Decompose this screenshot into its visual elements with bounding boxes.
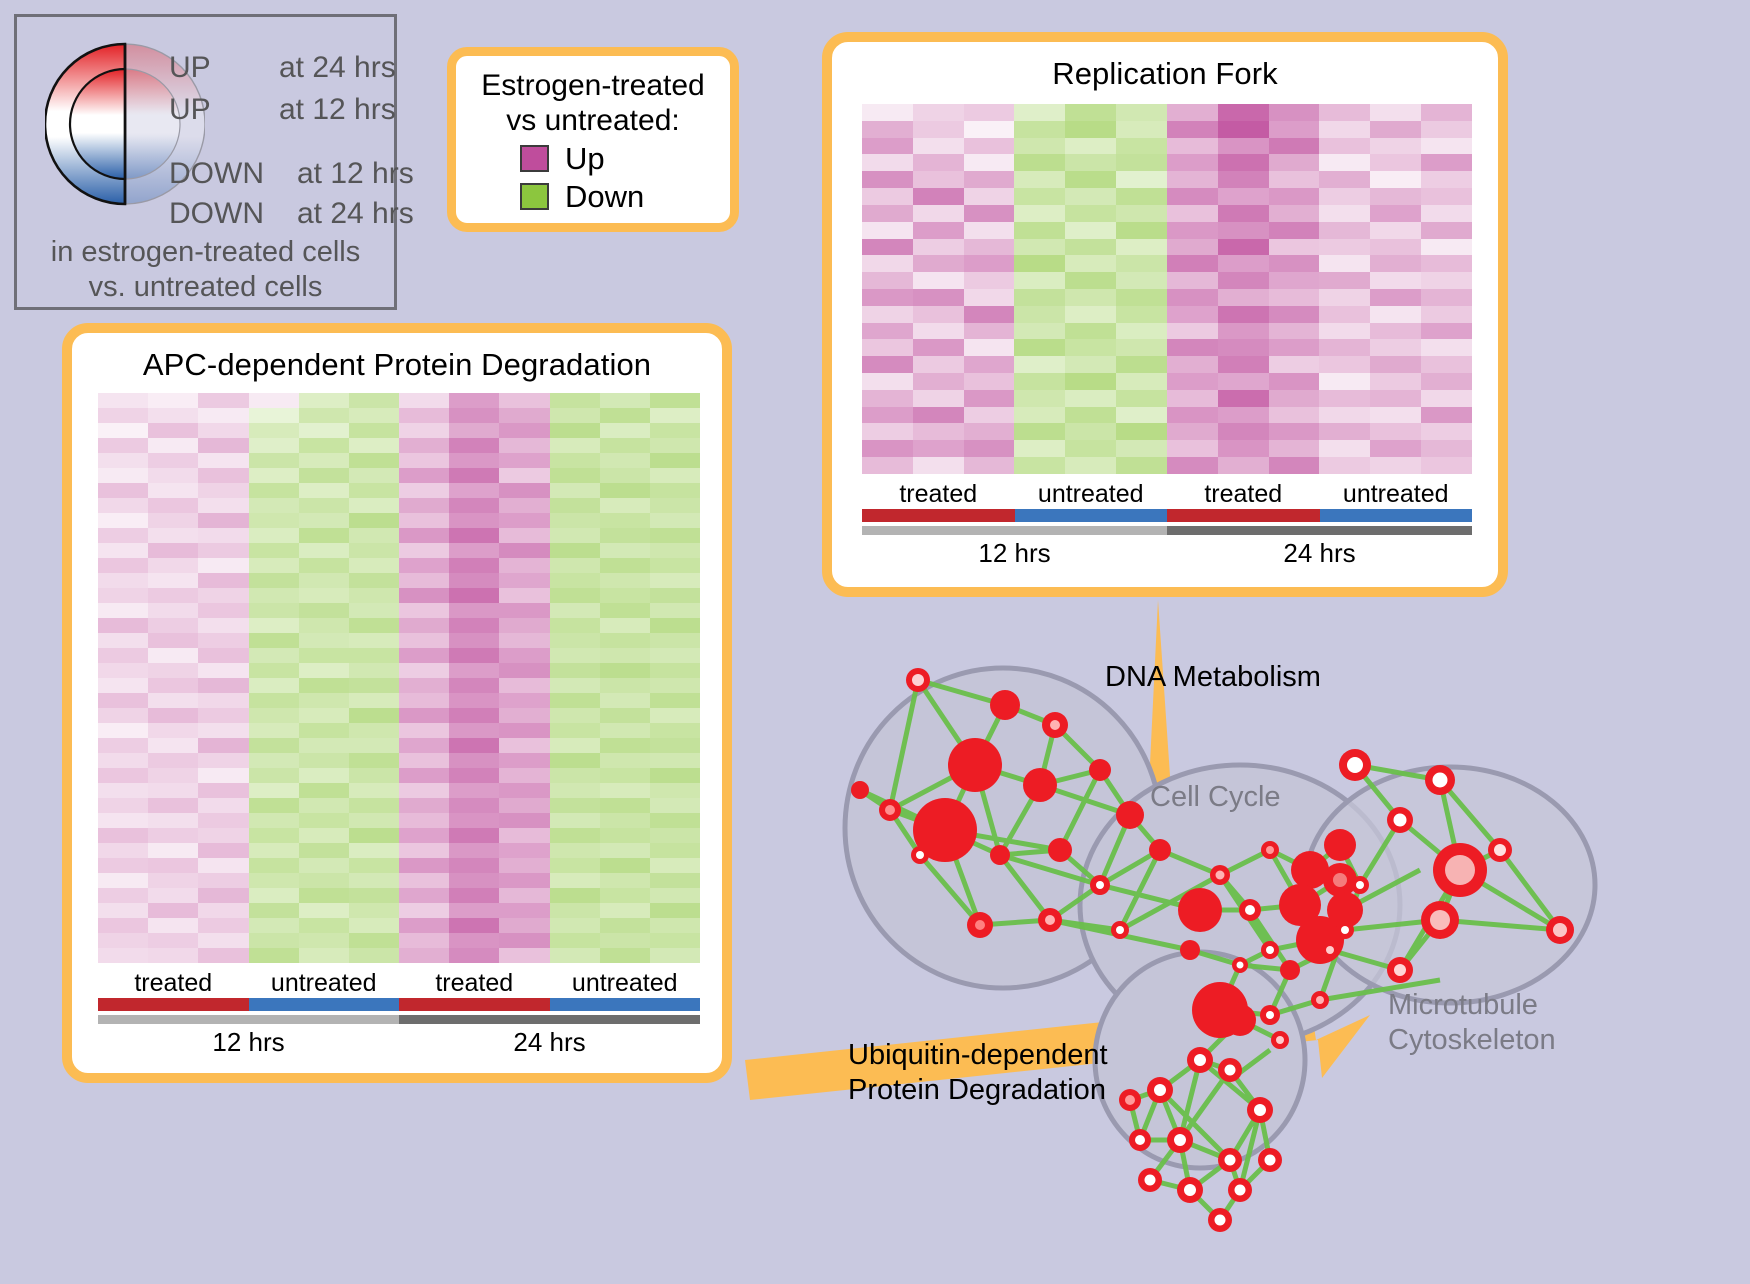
heatmap-cell <box>550 723 600 738</box>
heatmap-cell <box>198 783 248 798</box>
heatmap-cell <box>600 903 650 918</box>
heatmap-cell <box>198 438 248 453</box>
heatmap-cell <box>1167 407 1218 424</box>
heatmap-cell <box>913 423 964 440</box>
heatmap-row <box>862 423 1472 440</box>
heatmap-cell <box>449 603 499 618</box>
heatmap-cell <box>1116 239 1167 256</box>
heatmap-cell <box>198 423 248 438</box>
heatmap-cell <box>98 603 148 618</box>
heatmap-cell <box>1269 356 1320 373</box>
heatmap-cell <box>1319 339 1370 356</box>
heatmap-cell <box>1014 306 1065 323</box>
heatmap-cell <box>1065 188 1116 205</box>
group-color-bars-apc <box>98 998 700 1011</box>
heatmap-cell <box>1421 373 1472 390</box>
heatmap-row <box>98 663 700 678</box>
heatmap-cell <box>1421 138 1472 155</box>
heatmap-cell <box>148 483 198 498</box>
heatmap-cell <box>550 618 600 633</box>
heatmap-row <box>862 222 1472 239</box>
heatmap-row <box>98 918 700 933</box>
heatmap-cell <box>98 543 148 558</box>
heatmap-cell <box>862 154 913 171</box>
heatmap-cell <box>1116 339 1167 356</box>
heatmap-cell <box>862 323 913 340</box>
heatmap-cell <box>650 513 700 528</box>
heatmap-cell <box>550 888 600 903</box>
heatmap-cell <box>499 873 549 888</box>
heatmap-cell <box>299 888 349 903</box>
heatmap-row <box>98 828 700 843</box>
heatmap-cell <box>600 828 650 843</box>
heatmap-cell <box>1167 339 1218 356</box>
heatmap-cell <box>1014 239 1065 256</box>
heatmap-cell <box>499 858 549 873</box>
heatmap-cell <box>349 783 399 798</box>
heatmap-cell <box>399 648 449 663</box>
heatmap-cell <box>1421 104 1472 121</box>
heatmap-cell <box>1167 272 1218 289</box>
heatmap-row <box>862 171 1472 188</box>
heatmap-cell <box>449 798 499 813</box>
heatmap-cell <box>550 663 600 678</box>
heatmap-cell <box>1065 457 1116 474</box>
heatmap-cell <box>148 678 198 693</box>
heatmap-cell <box>1319 255 1370 272</box>
heatmap-cell <box>1065 272 1116 289</box>
heatmap-cell <box>449 678 499 693</box>
heatmap-cell <box>650 753 700 768</box>
heatmap-cell <box>1370 390 1421 407</box>
heatmap-cell <box>299 603 349 618</box>
heatmap-cell <box>198 828 248 843</box>
time-label-12hrs: 12 hrs <box>98 1027 399 1058</box>
heatmap-cell <box>148 558 198 573</box>
heatmap-cell <box>499 468 549 483</box>
heatmap-cell <box>1167 356 1218 373</box>
heatmap-cell <box>249 468 299 483</box>
heatmap-cell <box>1370 407 1421 424</box>
heatmap-cell <box>148 738 198 753</box>
heatmap-cell <box>550 468 600 483</box>
heatmap-cell <box>1421 239 1472 256</box>
heatmap-cell <box>1421 440 1472 457</box>
heatmap-cell <box>299 498 349 513</box>
heatmap-cell <box>862 423 913 440</box>
heatmap-cell <box>449 543 499 558</box>
heatmap-cell <box>148 828 198 843</box>
heatmap-cell <box>1319 390 1370 407</box>
heatmap-cell <box>299 633 349 648</box>
heatmap-cell <box>1319 373 1370 390</box>
heatmap-row <box>98 933 700 948</box>
heatmap-cell <box>550 858 600 873</box>
heatmap-cell <box>148 948 198 963</box>
heatmap-cell <box>98 678 148 693</box>
heatmap-cell <box>1167 171 1218 188</box>
heatmap-cell <box>349 813 399 828</box>
heatmap-cell <box>449 483 499 498</box>
heatmap-cell <box>600 603 650 618</box>
heatmap-cell <box>1269 121 1320 138</box>
heatmap-cell <box>299 708 349 723</box>
heatmap-cell <box>449 573 499 588</box>
heatmap-cell <box>550 513 600 528</box>
key-row-3-label: DOWN <box>169 197 264 231</box>
heatmap-cell <box>1319 239 1370 256</box>
heatmap-cell <box>198 858 248 873</box>
heatmap-cell <box>913 440 964 457</box>
group-bar-untreated-3 <box>1320 509 1473 522</box>
heatmap-row <box>862 373 1472 390</box>
heatmap-cell <box>349 573 399 588</box>
heatmap-cell <box>650 558 700 573</box>
cluster-label-dna-metabolism: DNA Metabolism <box>1105 660 1321 695</box>
heatmap-cell <box>1421 188 1472 205</box>
heatmap-cell <box>98 813 148 828</box>
heatmap-cell <box>1014 121 1065 138</box>
heatmap-cell <box>1065 356 1116 373</box>
heatmap-cell <box>862 440 913 457</box>
time-label-24hrs: 24 hrs <box>399 1027 700 1058</box>
heatmap-cell <box>1065 171 1116 188</box>
heatmap-cell <box>349 828 399 843</box>
heatmap-cell <box>249 903 299 918</box>
heatmap-cell <box>98 483 148 498</box>
heatmap-cell <box>550 453 600 468</box>
heatmap-cell <box>600 618 650 633</box>
heatmap-cell <box>499 558 549 573</box>
heatmap-cell <box>1269 440 1320 457</box>
heatmap-cell <box>499 813 549 828</box>
heatmap-cell <box>1014 255 1065 272</box>
heatmap-cell <box>1370 255 1421 272</box>
heatmap-cell <box>1014 222 1065 239</box>
heatmap-cell <box>1167 390 1218 407</box>
heatmap-cell <box>349 843 399 858</box>
heatmap-cell <box>98 888 148 903</box>
key-row-1-time: at 12 hrs <box>279 93 396 127</box>
heatmap-cell <box>98 783 148 798</box>
heatmap-cell <box>964 407 1015 424</box>
heatmap-cell <box>1269 339 1320 356</box>
heatmap-cell <box>1218 440 1269 457</box>
heatmap-cell <box>600 588 650 603</box>
heatmap-cell <box>299 858 349 873</box>
heatmap-cell <box>98 588 148 603</box>
heatmap-cell <box>98 528 148 543</box>
heatmap-cell <box>1319 104 1370 121</box>
group-label-3: untreated <box>550 969 701 998</box>
heatmap-cell <box>399 843 449 858</box>
heatmap-cell <box>913 373 964 390</box>
heatmap-cell <box>249 843 299 858</box>
heatmap-cell <box>198 723 248 738</box>
heatmap-cell <box>650 843 700 858</box>
group-bar-untreated-1 <box>249 998 400 1011</box>
heatmap-cell <box>1370 356 1421 373</box>
heatmap-cell <box>249 618 299 633</box>
heatmap-cell <box>148 603 198 618</box>
heatmap-cell <box>1421 222 1472 239</box>
heatmap-cell <box>499 798 549 813</box>
heatmap-row <box>98 888 700 903</box>
heatmap-cell <box>449 423 499 438</box>
heatmap-cell <box>862 121 913 138</box>
heatmap-cell <box>964 289 1015 306</box>
heatmap-cell <box>249 798 299 813</box>
key-row-1-label: UP <box>169 93 211 127</box>
heatmap-cell <box>600 708 650 723</box>
heatmap-cell <box>1065 373 1116 390</box>
heatmap-row <box>862 188 1472 205</box>
heatmap-cell <box>249 708 299 723</box>
heatmap-cell <box>913 171 964 188</box>
heatmap-cell <box>650 858 700 873</box>
heatmap-cell <box>499 648 549 663</box>
heatmap-cell <box>449 843 499 858</box>
group-labels-replication-fork: treated untreated treated untreated <box>862 480 1472 509</box>
heatmap-cell <box>1319 121 1370 138</box>
heatmap-cell <box>650 408 700 423</box>
heatmap-cell <box>550 708 600 723</box>
heatmap-cell <box>499 753 549 768</box>
heatmap-cell <box>198 708 248 723</box>
heatmap-cell <box>449 828 499 843</box>
heatmap-cell <box>399 813 449 828</box>
heatmap-cell <box>148 468 198 483</box>
heatmap-cell <box>1421 457 1472 474</box>
heatmap-cell <box>449 498 499 513</box>
heatmap-cell <box>1319 323 1370 340</box>
heatmap-cell <box>550 408 600 423</box>
heatmap-cell <box>299 753 349 768</box>
heatmap-cell <box>1370 440 1421 457</box>
heatmap-cell <box>399 693 449 708</box>
heatmap-cell <box>349 543 399 558</box>
heatmap-cell <box>148 873 198 888</box>
heatmap-cell <box>148 633 198 648</box>
heatmap-apc-degradation <box>98 393 700 963</box>
group-label-0: treated <box>98 969 249 998</box>
heatmap-cell <box>98 468 148 483</box>
heatmap-cell <box>862 222 913 239</box>
heatmap-cell <box>148 843 198 858</box>
heatmap-cell <box>98 798 148 813</box>
heatmap-cell <box>299 783 349 798</box>
heatmap-cell <box>249 648 299 663</box>
heatmap-cell <box>449 873 499 888</box>
key-footer-line1: in estrogen-treated cells <box>17 235 394 270</box>
heatmap-cell <box>550 873 600 888</box>
time-bar-24-hrs <box>399 1015 700 1024</box>
heatmap-cell <box>1370 121 1421 138</box>
key-row-3-time: at 24 hrs <box>297 197 414 231</box>
heatmap-cell <box>650 423 700 438</box>
heatmap-cell <box>1218 407 1269 424</box>
heatmap-cell <box>650 543 700 558</box>
heatmap-cell <box>1421 423 1472 440</box>
heatmap-cell <box>1218 423 1269 440</box>
heatmap-cell <box>449 888 499 903</box>
heatmap-row <box>98 783 700 798</box>
legend-label-down: Down <box>565 179 644 215</box>
heatmap-cell <box>650 888 700 903</box>
heatmap-row <box>98 468 700 483</box>
heatmap-cell <box>650 588 700 603</box>
heatmap-cell <box>349 888 399 903</box>
heatmap-row <box>98 558 700 573</box>
heatmap-cell <box>600 573 650 588</box>
heatmap-cell <box>1319 440 1370 457</box>
heatmap-cell <box>499 828 549 843</box>
heatmap-row <box>98 858 700 873</box>
heatmap-cell <box>1065 138 1116 155</box>
heatmap-cell <box>98 873 148 888</box>
heatmap-cell <box>299 393 349 408</box>
group-label-2: treated <box>1167 480 1320 509</box>
heatmap-cell <box>600 438 650 453</box>
heatmap-cell <box>913 457 964 474</box>
heatmap-cell <box>98 453 148 468</box>
heatmap-cell <box>349 513 399 528</box>
estrogen-legend-box: Estrogen-treated vs untreated: Up Down <box>447 47 739 232</box>
heatmap-row <box>862 440 1472 457</box>
heatmap-row <box>98 453 700 468</box>
heatmap-cell <box>1167 104 1218 121</box>
heatmap-cell <box>349 678 399 693</box>
heatmap-cell <box>862 272 913 289</box>
heatmap-cell <box>449 438 499 453</box>
heatmap-cell <box>862 390 913 407</box>
heatmap-cell <box>198 498 248 513</box>
heatmap-cell <box>1065 440 1116 457</box>
heatmap-cell <box>98 693 148 708</box>
key-footer: in estrogen-treated cells vs. untreated … <box>17 235 394 306</box>
heatmap-cell <box>1014 205 1065 222</box>
heatmap-cell <box>1370 188 1421 205</box>
heatmap-cell <box>499 438 549 453</box>
heatmap-cell <box>862 407 913 424</box>
heatmap-cell <box>449 813 499 828</box>
heatmap-cell <box>399 783 449 798</box>
heatmap-cell <box>913 356 964 373</box>
heatmap-row <box>98 738 700 753</box>
heatmap-row <box>98 483 700 498</box>
heatmap-cell <box>349 393 399 408</box>
heatmap-cell <box>399 498 449 513</box>
heatmap-row <box>98 618 700 633</box>
heatmap-cell <box>650 648 700 663</box>
heatmap-cell <box>1065 104 1116 121</box>
heatmap-cell <box>1116 457 1167 474</box>
heatmap-cell <box>148 618 198 633</box>
heatmap-cell <box>349 483 399 498</box>
heatmap-cell <box>650 948 700 963</box>
heatmap-cell <box>299 483 349 498</box>
heatmap-cell <box>1218 289 1269 306</box>
heatmap-cell <box>600 693 650 708</box>
heatmap-cell <box>249 573 299 588</box>
heatmap-cell <box>249 783 299 798</box>
heatmap-cell <box>299 573 349 588</box>
heatmap-cell <box>550 393 600 408</box>
heatmap-cell <box>1065 423 1116 440</box>
heatmap-cell <box>1319 423 1370 440</box>
heatmap-cell <box>198 528 248 543</box>
heatmap-cell <box>499 678 549 693</box>
heatmap-cell <box>249 678 299 693</box>
heatmap-cell <box>550 483 600 498</box>
heatmap-cell <box>198 888 248 903</box>
heatmap-cell <box>499 918 549 933</box>
heatmap-cell <box>399 723 449 738</box>
heatmap-cell <box>148 798 198 813</box>
legend-title: Estrogen-treated vs untreated: <box>456 68 730 139</box>
heatmap-cell <box>1014 323 1065 340</box>
heatmap-cell <box>600 498 650 513</box>
heatmap-cell <box>198 408 248 423</box>
heatmap-cell <box>449 558 499 573</box>
heatmap-cell <box>198 543 248 558</box>
heatmap-cell <box>1269 306 1320 323</box>
heatmap-cell <box>1218 255 1269 272</box>
heatmap-cell <box>550 573 600 588</box>
heatmap-cell <box>600 858 650 873</box>
heatmap-cell <box>349 438 399 453</box>
heatmap-cell <box>1218 188 1269 205</box>
heatmap-cell <box>1319 171 1370 188</box>
group-label-0: treated <box>862 480 1015 509</box>
heatmap-cell <box>913 239 964 256</box>
heatmap-cell <box>550 423 600 438</box>
heatmap-cell <box>299 948 349 963</box>
heatmap-cell <box>600 948 650 963</box>
heatmap-cell <box>550 948 600 963</box>
heatmap-cell <box>349 768 399 783</box>
heatmap-cell <box>1167 239 1218 256</box>
heatmap-cell <box>349 708 399 723</box>
heatmap-cell <box>98 648 148 663</box>
group-label-1: untreated <box>1015 480 1168 509</box>
heatmap-cell <box>550 648 600 663</box>
heatmap-cell <box>449 738 499 753</box>
heatmap-cell <box>600 633 650 648</box>
heatmap-cell <box>399 543 449 558</box>
heatmap-row <box>862 239 1472 256</box>
time-bar-12-hrs <box>98 1015 399 1024</box>
heatmap-cell <box>249 753 299 768</box>
heatmap-cell <box>399 603 449 618</box>
heatmap-cell <box>1269 188 1320 205</box>
heatmap-cell <box>98 498 148 513</box>
heatmap-cell <box>148 753 198 768</box>
heatmap-cell <box>650 933 700 948</box>
heatmap-cell <box>862 255 913 272</box>
heatmap-cell <box>862 306 913 323</box>
heatmap-cell <box>399 393 449 408</box>
heatmap-cell <box>349 948 399 963</box>
heatmap-cell <box>1319 272 1370 289</box>
panel-apc-degradation: APC-dependent Protein Degradation treate… <box>62 323 732 1083</box>
heatmap-cell <box>1116 272 1167 289</box>
heatmap-row <box>98 843 700 858</box>
heatmap-cell <box>1370 373 1421 390</box>
heatmap-row <box>862 121 1472 138</box>
heatmap-cell <box>600 423 650 438</box>
heatmap-cell <box>550 498 600 513</box>
